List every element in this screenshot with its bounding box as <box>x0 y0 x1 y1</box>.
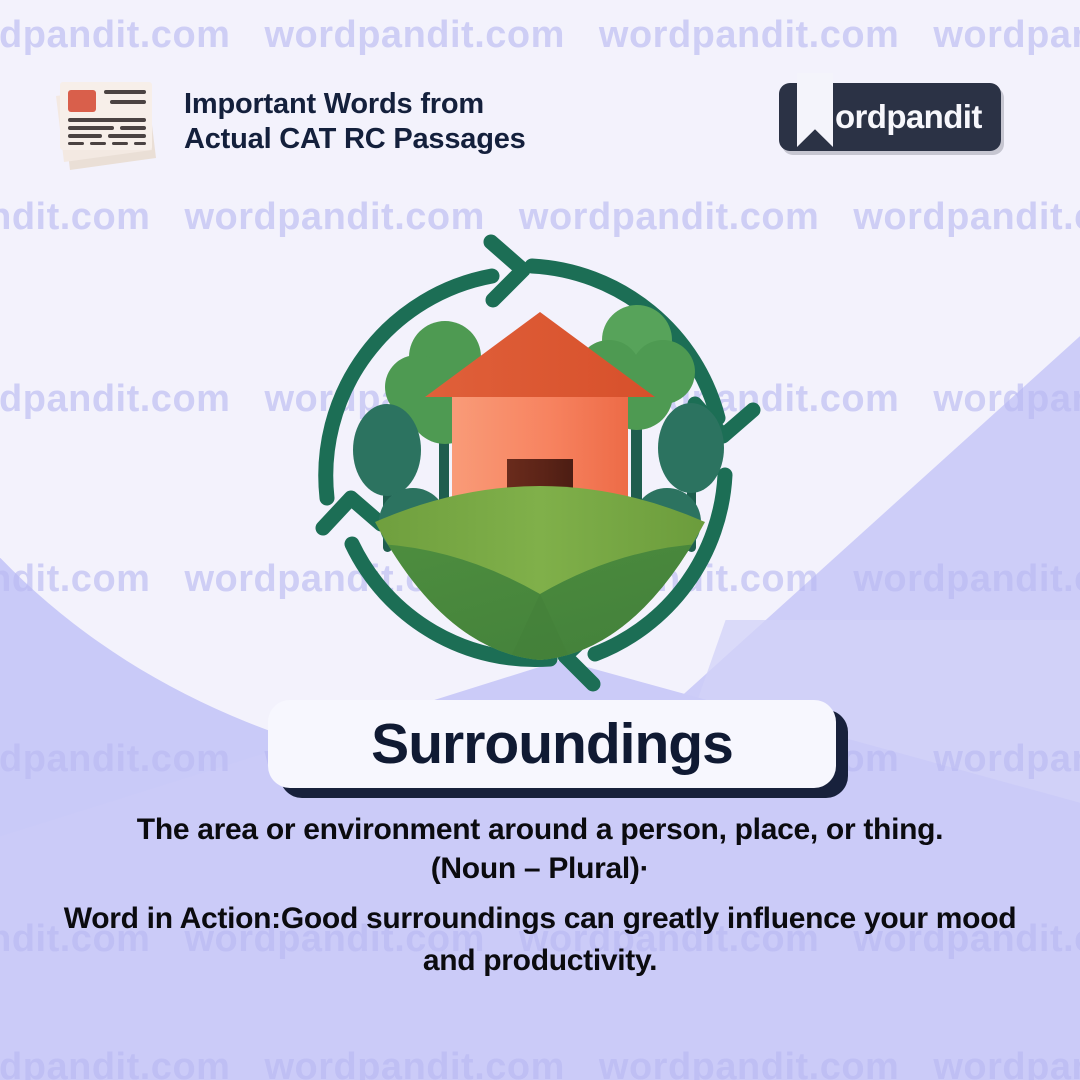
definition-block: The area or environment around a person,… <box>50 810 1030 888</box>
poster-canvas: wordpandit.comwordpandit.comwordpandit.c… <box>0 0 1080 1080</box>
logo-text: ordpandit <box>835 98 982 136</box>
word-badge-surface: Surroundings <box>268 700 836 788</box>
bookmark-ribbon-icon <box>797 73 833 147</box>
header: Important Words from Actual CAT RC Passa… <box>52 70 526 174</box>
definition-text: The area or environment around a person,… <box>50 810 1030 849</box>
word-in-action-text: Word in Action:Good surroundings can gre… <box>60 898 1020 982</box>
newspaper-icon <box>52 70 170 174</box>
word-label: Surroundings <box>371 711 733 777</box>
part-of-speech: (Noun – Plural)· <box>50 849 1030 888</box>
surroundings-illustration <box>295 222 785 712</box>
wordpandit-logo[interactable]: ordpandit <box>779 83 1001 151</box>
word-badge: Surroundings <box>268 700 836 788</box>
page-title: Important Words from Actual CAT RC Passa… <box>184 87 526 158</box>
